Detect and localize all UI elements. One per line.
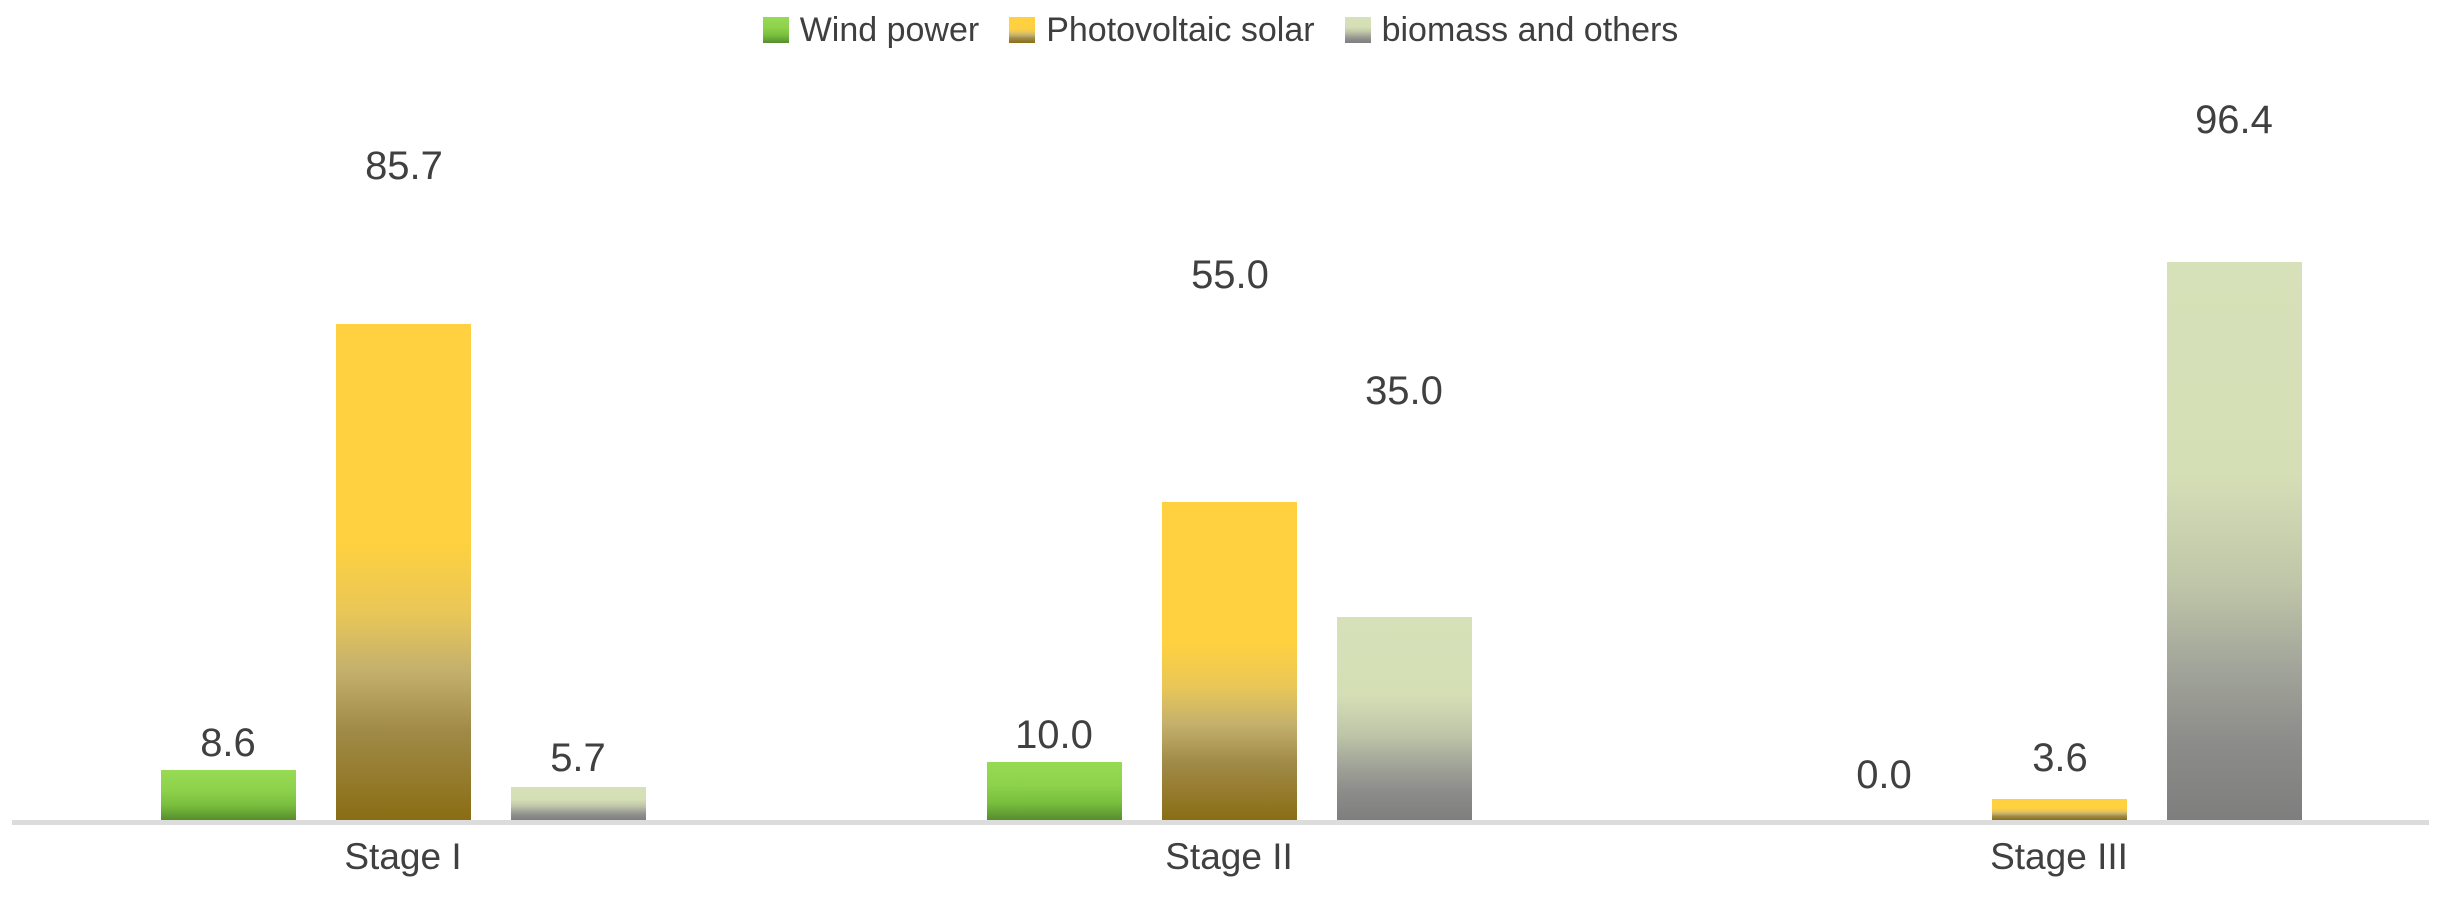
bar-label-stage2-wind: 10.0 <box>944 715 1164 755</box>
category-label-stage-1: Stage I <box>223 838 583 875</box>
bar-label-stage2-biomass: 35.0 <box>1294 371 1514 411</box>
category-label-stage-2: Stage II <box>1049 838 1409 875</box>
bar-stage1-solar[interactable] <box>336 324 471 820</box>
bar-stage2-solar[interactable] <box>1162 502 1297 820</box>
bar-stage2-wind[interactable] <box>987 762 1122 820</box>
bar-label-stage1-biomass: 5.7 <box>468 738 688 778</box>
bar-label-stage2-solar: 55.0 <box>1120 255 1340 295</box>
x-axis-baseline <box>12 820 2429 825</box>
bar-stage3-solar[interactable] <box>1992 799 2127 820</box>
chart-plot-area: 8.6 85.7 5.7 Stage I 10.0 55.0 35.0 Stag… <box>0 0 2441 913</box>
bar-stage2-biomass[interactable] <box>1337 617 1472 820</box>
bar-label-stage1-wind: 8.6 <box>118 723 338 763</box>
bar-stage3-biomass[interactable] <box>2167 262 2302 820</box>
bar-label-stage3-solar: 3.6 <box>1950 738 2170 778</box>
category-label-stage-3: Stage III <box>1879 838 2239 875</box>
bar-stage1-biomass[interactable] <box>511 787 646 820</box>
bar-label-stage1-solar: 85.7 <box>294 146 514 186</box>
bar-stage1-wind[interactable] <box>161 770 296 820</box>
bar-label-stage3-biomass: 96.4 <box>2124 100 2344 140</box>
